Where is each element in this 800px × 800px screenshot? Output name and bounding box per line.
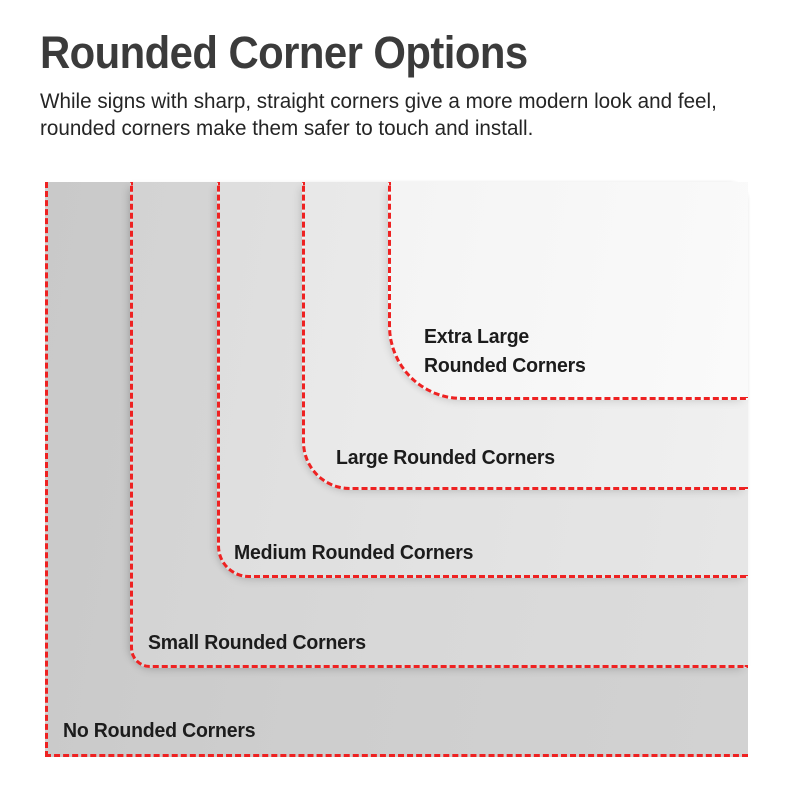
corner-layer-label-extra-large: Extra Large Rounded Corners <box>424 322 586 380</box>
corner-layer-no-rounded <box>45 182 748 757</box>
corner-layer-medium-rounded <box>217 182 748 578</box>
corner-layer-extra-large-rounded <box>388 182 748 400</box>
page-subtitle: While signs with sharp, straight corners… <box>40 88 731 142</box>
corner-layer-small-rounded <box>130 182 748 668</box>
corner-layer-label-small: Small Rounded Corners <box>148 628 366 657</box>
corner-layer-large-rounded <box>302 182 748 490</box>
rounded-corner-options-graphic: Rounded Corner Options While signs with … <box>0 0 800 800</box>
header: Rounded Corner Options While signs with … <box>40 28 760 142</box>
corner-layer-label-medium: Medium Rounded Corners <box>234 538 473 567</box>
corner-layer-label-none: No Rounded Corners <box>63 716 255 745</box>
page-title: Rounded Corner Options <box>40 28 710 78</box>
corner-layer-label-large: Large Rounded Corners <box>336 443 555 472</box>
